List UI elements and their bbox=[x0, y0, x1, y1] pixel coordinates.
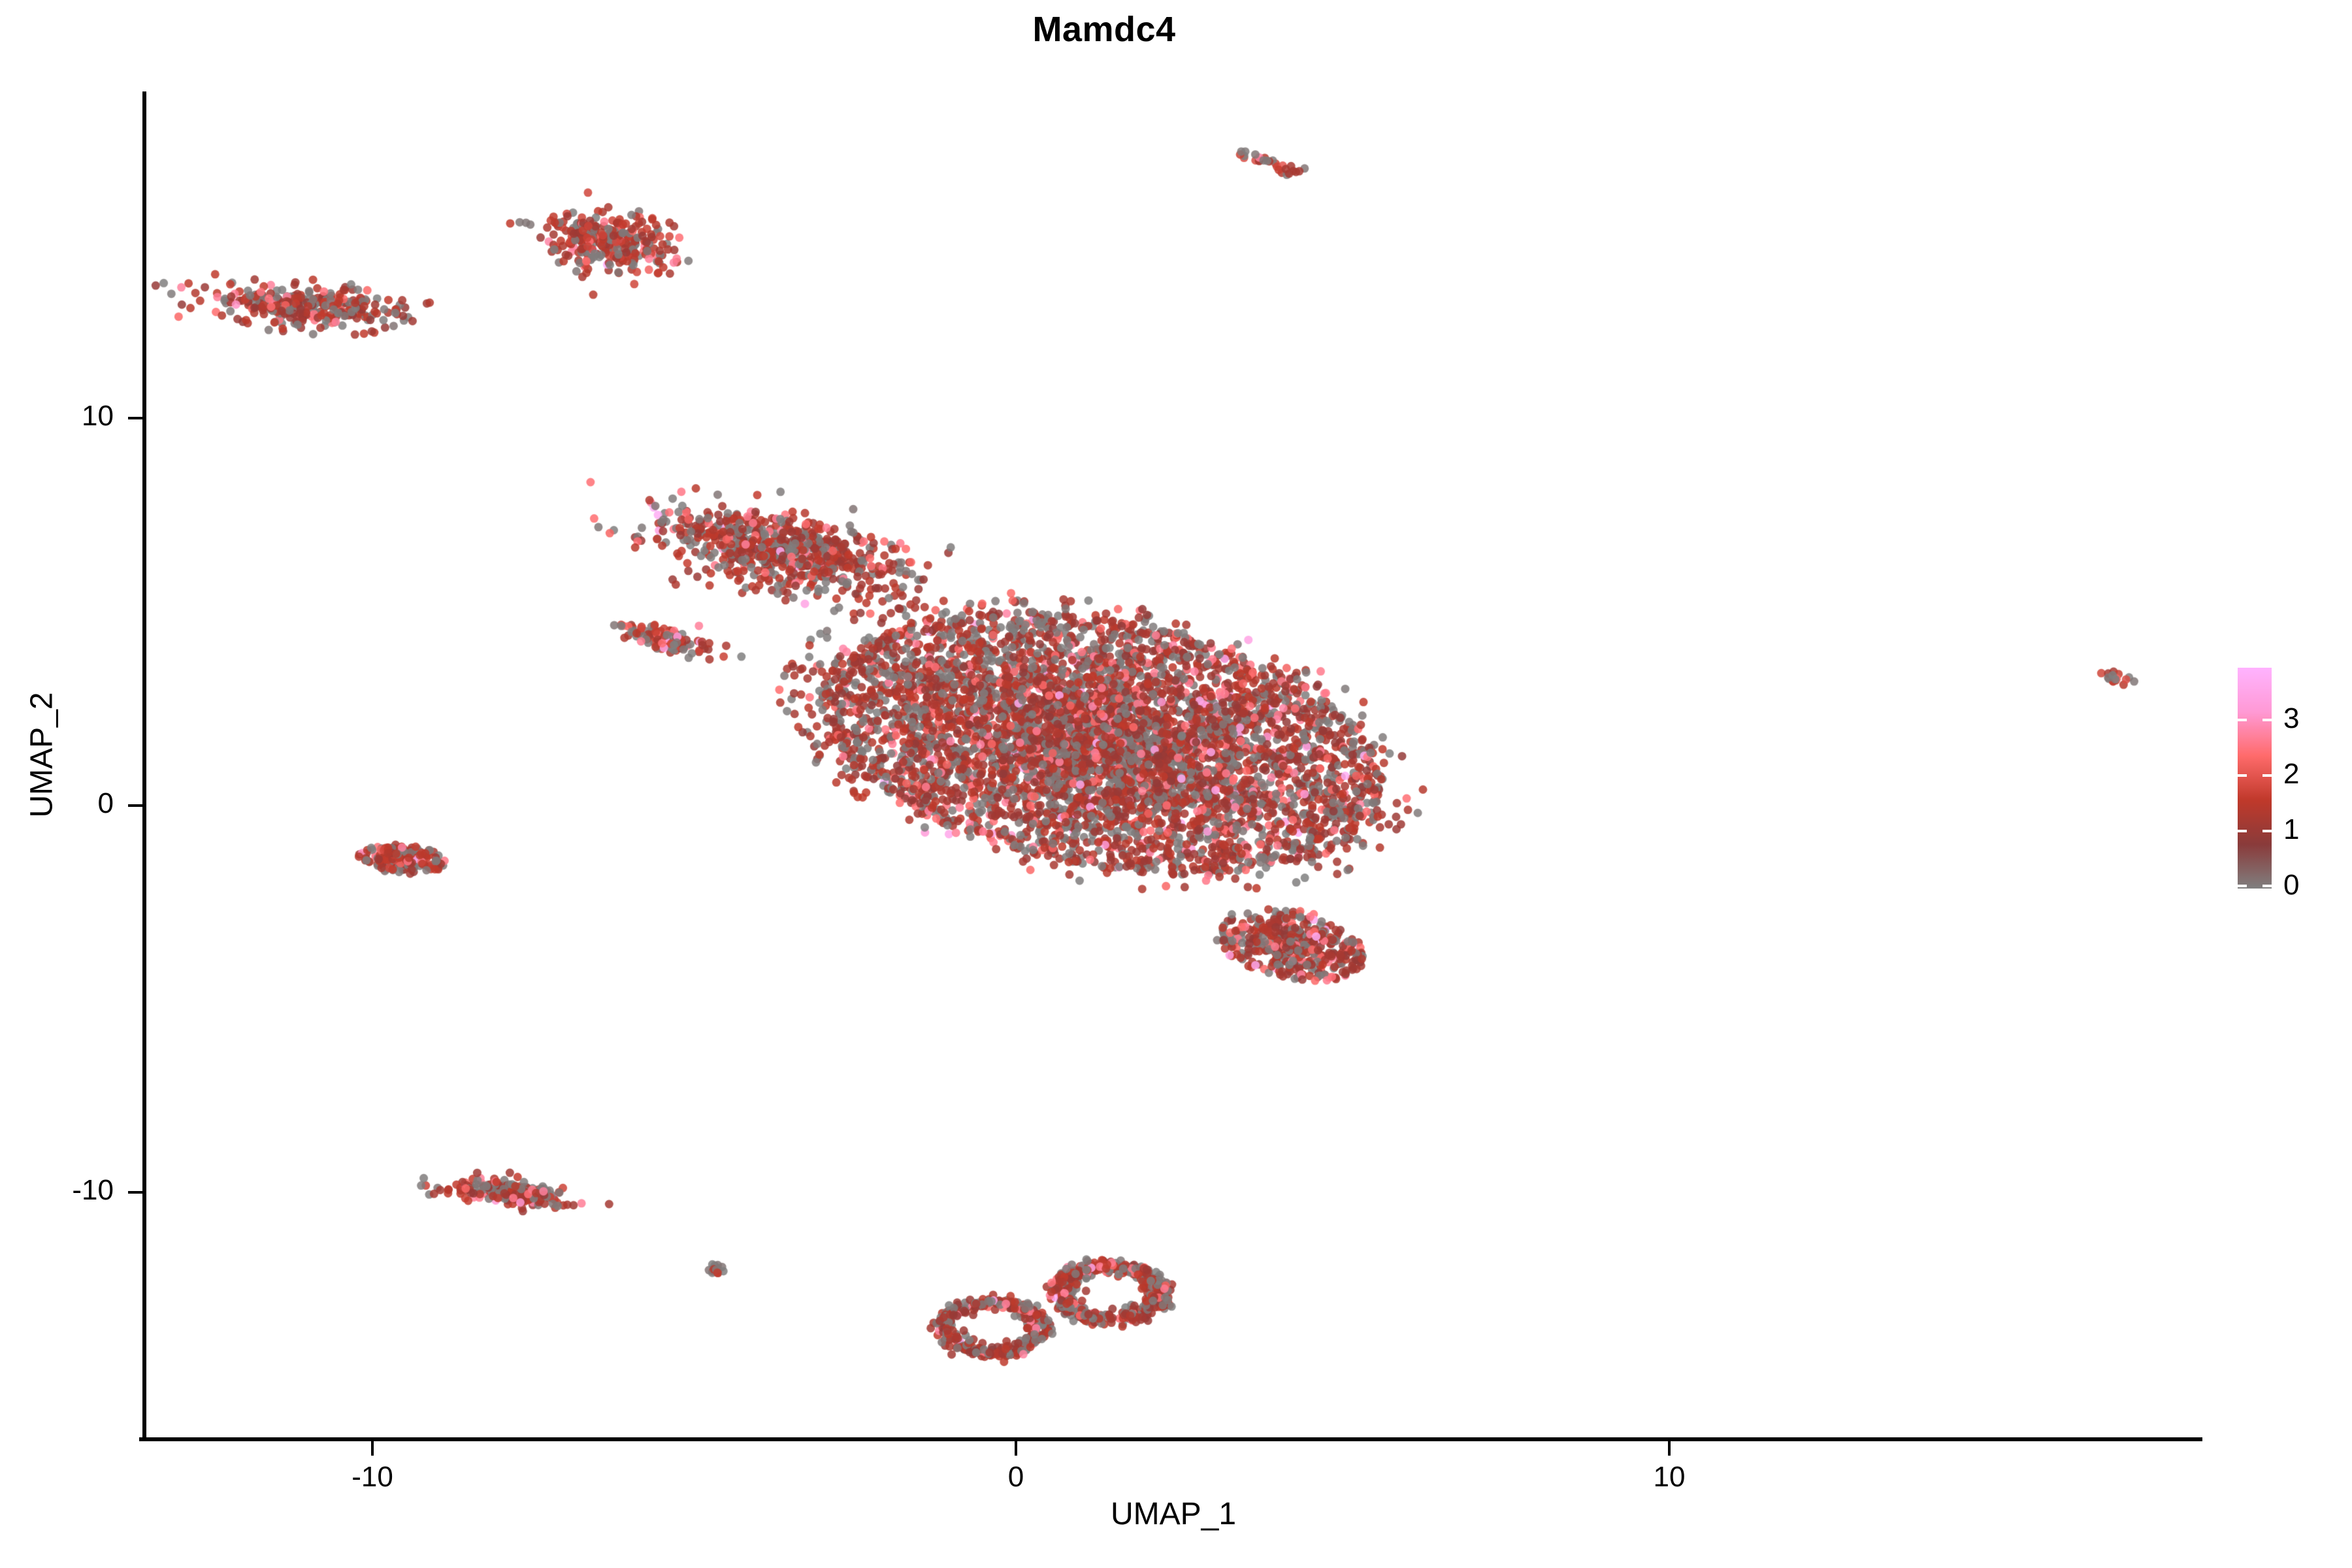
scatter-plot-canvas bbox=[145, 91, 2202, 1439]
y-axis-title: UMAP_2 bbox=[24, 363, 60, 1147]
y-axis-line bbox=[142, 91, 146, 1441]
legend-tick-0-left bbox=[2238, 885, 2247, 887]
legend-tick-0-right bbox=[2262, 885, 2272, 887]
x-tick-label-neg10: -10 bbox=[307, 1461, 438, 1494]
x-tick-mark-0 bbox=[1015, 1441, 1017, 1456]
legend-tick-3-left bbox=[2238, 719, 2247, 721]
y-tick-mark-0 bbox=[128, 804, 142, 807]
y-tick-label-neg10: -10 bbox=[0, 1174, 114, 1207]
x-tick-mark-10 bbox=[1668, 1441, 1671, 1456]
page-title: Mamdc4 bbox=[0, 9, 2208, 50]
legend-label-2: 2 bbox=[2283, 760, 2299, 789]
y-tick-mark-neg10 bbox=[128, 1191, 142, 1194]
x-tick-label-0: 0 bbox=[951, 1461, 1081, 1494]
umap-feature-plot: Mamdc4 -10 0 10 10 0 -10 UMAP_1 UMAP_2 3… bbox=[0, 0, 2352, 1568]
legend-tick-2-right bbox=[2262, 774, 2272, 777]
x-tick-mark-neg10 bbox=[371, 1441, 374, 1456]
legend-colorbar bbox=[2238, 668, 2272, 889]
x-axis-line bbox=[139, 1437, 2202, 1441]
legend-label-1: 1 bbox=[2283, 815, 2299, 844]
legend-tick-1-left bbox=[2238, 830, 2247, 832]
legend-tick-1-right bbox=[2262, 830, 2272, 832]
x-axis-title: UMAP_1 bbox=[145, 1496, 2202, 1532]
legend-label-0: 0 bbox=[2283, 871, 2299, 900]
legend-tick-2-left bbox=[2238, 774, 2247, 777]
y-tick-mark-10 bbox=[128, 417, 142, 419]
plot-panel bbox=[145, 91, 2202, 1439]
legend-label-3: 3 bbox=[2283, 704, 2299, 733]
legend-tick-3-right bbox=[2262, 719, 2272, 721]
x-tick-label-10: 10 bbox=[1604, 1461, 1735, 1494]
